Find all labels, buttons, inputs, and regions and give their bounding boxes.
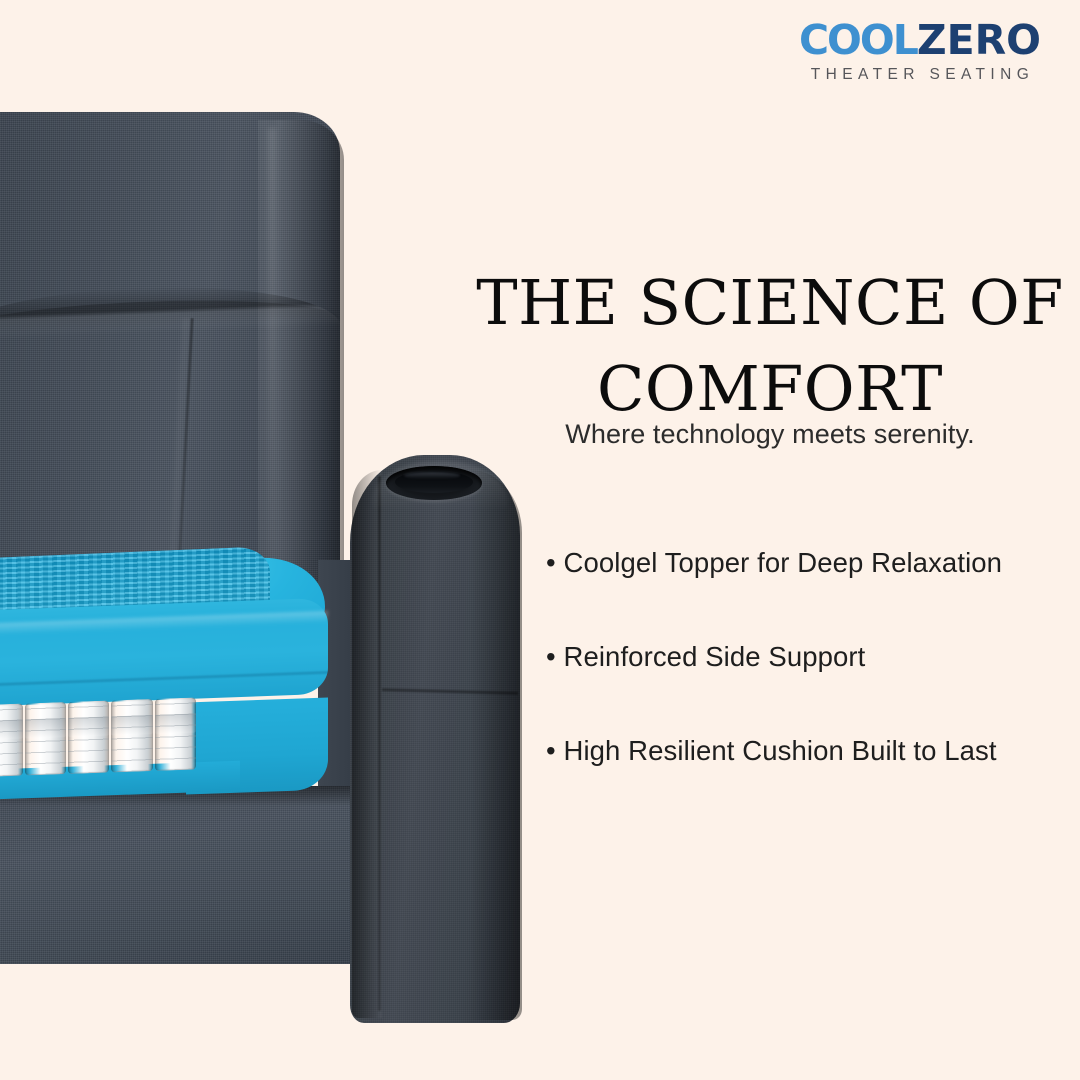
feature-label: High Resilient Cushion Built to Last [563,735,996,766]
pocket-coil [68,701,109,774]
pocket-coil [155,697,196,770]
poster-canvas: COOLZERO THEATER SEATING THE SCIENCE OF … [0,0,1080,1080]
page-subtitle: Where technology meets serenity. [470,419,1070,450]
pocket-coil [0,704,23,777]
pocket-coil [111,699,152,772]
brand-logo-wordmark: COOLZERO [790,18,1050,62]
pocket-coil [25,702,66,775]
feature-list-item: • Coolgel Topper for Deep Relaxation [546,546,1066,580]
feature-label: Reinforced Side Support [563,641,865,672]
brand-logo[interactable]: COOLZERO THEATER SEATING [790,18,1050,84]
backrest-edge-highlight [268,128,276,578]
product-image [0,0,540,1080]
page-title-line-1: THE SCIENCE OF [476,266,1064,339]
cushion-cutaway [0,560,370,800]
armrest-front-seam [378,476,381,1011]
brand-tagline: THEATER SEATING [790,66,1050,84]
feature-list: • Coolgel Topper for Deep Relaxation • R… [546,546,1066,768]
seat-base [0,786,370,964]
armrest-side-shading [470,470,522,1020]
bullet-marker: • [546,735,556,766]
bullet-marker: • [546,641,556,672]
feature-label: Coolgel Topper for Deep Relaxation [563,547,1002,578]
brand-logo-cool: COOL [799,18,917,62]
cupholder-highlight [404,472,460,479]
brand-logo-zero: ZERO [917,18,1041,62]
feature-list-item: • High Resilient Cushion Built to Last [546,734,1066,768]
bullet-marker: • [546,547,556,578]
feature-list-item: • Reinforced Side Support [546,640,1066,674]
page-title: THE SCIENCE OF COMFORT [470,260,1070,432]
pocket-coil-spring-row [0,697,196,778]
